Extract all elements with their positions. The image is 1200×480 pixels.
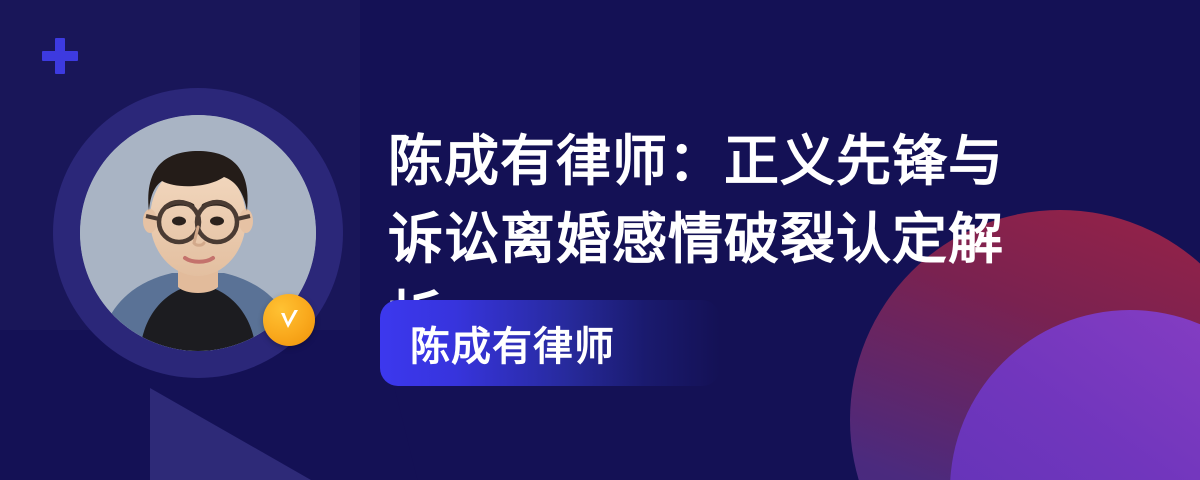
lawyer-profile-banner: 陈成有律师：正义先锋与 诉讼离婚感情破裂认定解 析 陈成有律师: [0, 0, 1200, 480]
avatar: [53, 88, 343, 378]
title-line-2: 诉讼离婚感情破裂认定解: [388, 200, 1088, 278]
lawyer-name-pill[interactable]: 陈成有律师: [380, 300, 720, 386]
lawyer-name-label: 陈成有律师: [410, 314, 615, 372]
plus-icon: [42, 38, 78, 74]
title-line-1: 陈成有律师：正义先锋与: [388, 122, 1088, 200]
verified-badge-icon: [263, 294, 315, 346]
